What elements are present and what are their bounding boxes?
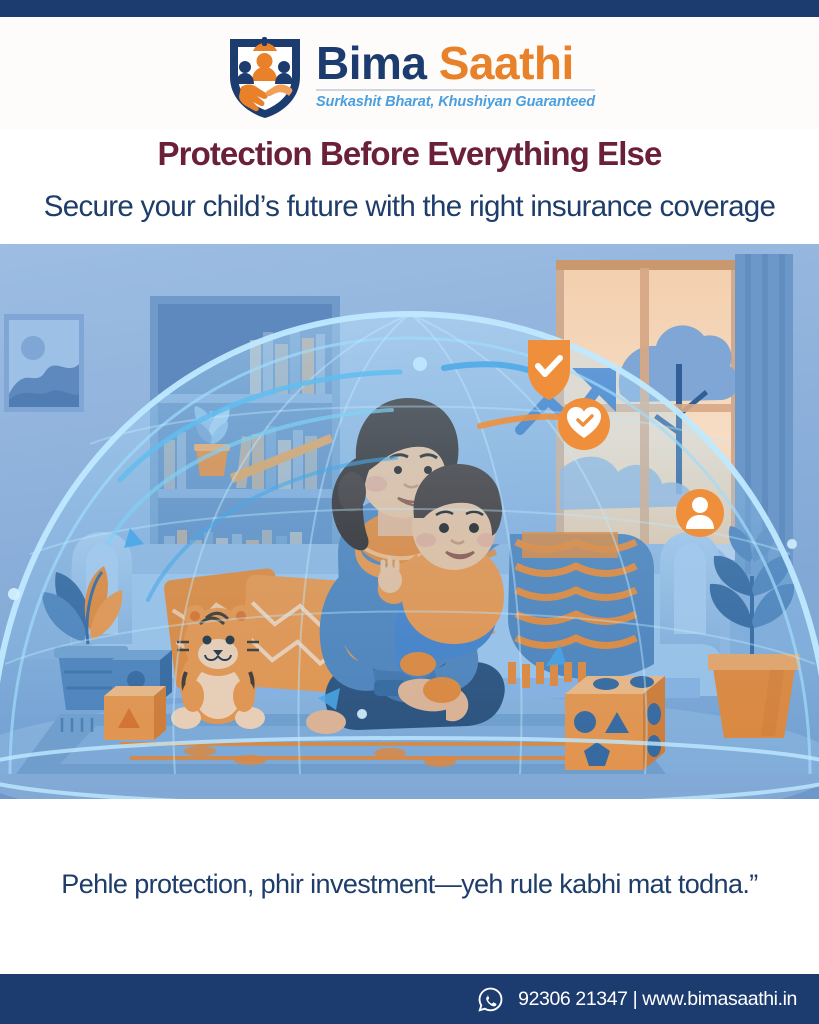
illustration-canvas [0, 244, 819, 799]
logo-word-saathi: Saathi [439, 37, 574, 89]
page-title: Protection Before Everything Else [40, 135, 779, 174]
wall-picture-frame [4, 314, 84, 412]
heart-check-badge [558, 398, 610, 450]
top-accent-bar [0, 0, 819, 17]
shield-family-handshake-icon [224, 29, 306, 121]
logo-word-bima: Bima [316, 37, 426, 89]
brand-header: Bima Saathi Surkashit Bharat, Khushiyan … [0, 17, 819, 129]
caption-block: Pehle protection, phir investment—yeh ru… [0, 799, 819, 974]
footer-contact[interactable]: 92306 21347 | www.bimasaathi.in [518, 988, 797, 1011]
caption-text: Pehle protection, phir investment—yeh ru… [61, 864, 757, 906]
logo-wordmark-group: Bima Saathi Surkashit Bharat, Khushiyan … [316, 40, 595, 111]
whatsapp-icon[interactable] [477, 986, 504, 1013]
page-subtitle: Secure your child’s future with the righ… [40, 185, 779, 230]
logo-divider [316, 89, 595, 91]
logo-wordmark: Bima Saathi [316, 40, 574, 87]
hero-illustration [0, 244, 819, 799]
footer-bar: 92306 21347 | www.bimasaathi.in [0, 974, 819, 1024]
person-badge [676, 489, 724, 537]
logo-tagline: Surkashit Bharat, Khushiyan Guaranteed [316, 94, 595, 110]
headline-block: Protection Before Everything Else Secure… [0, 129, 819, 244]
logo-lockup: Bima Saathi Surkashit Bharat, Khushiyan … [210, 27, 609, 125]
poster-root: Bima Saathi Surkashit Bharat, Khushiyan … [0, 0, 819, 1024]
